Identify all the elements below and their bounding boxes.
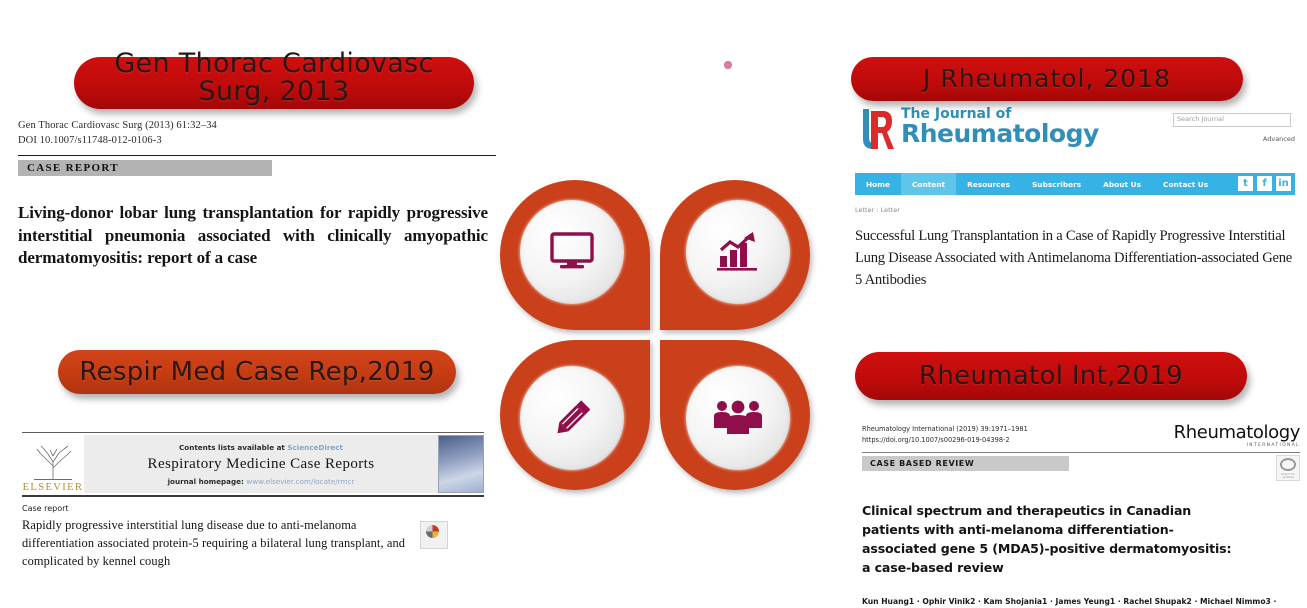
banner-rheumatol-int[interactable]: Rheumatol Int,2019 xyxy=(855,352,1247,400)
respir-top-rule xyxy=(22,432,484,433)
crossmark-badge-icon[interactable] xyxy=(420,521,448,549)
respir-journal-header: ELSEVIER Contents lists available at Sci… xyxy=(22,435,484,493)
respir-center-block: Contents lists available at ScienceDirec… xyxy=(84,435,438,493)
advanced-search-link[interactable]: Advanced xyxy=(1173,135,1295,143)
respir-journal-cover-thumbnail xyxy=(438,435,484,493)
panel-rheumatol-int: Rheumatology International (2019) 39:197… xyxy=(862,424,1300,608)
panel-j-rheumatol: The Journal of Rheumatology Search Journ… xyxy=(855,105,1295,292)
respir-homepage-link[interactable]: www.elsevier.com/locate/rmcr xyxy=(246,477,354,486)
jrheum-brand-line2: Rheumatology xyxy=(901,121,1099,147)
rheumint-doi[interactable]: https://doi.org/10.1007/s00296-019-04398… xyxy=(862,435,1028,446)
jrheum-article-title: Successful Lung Transplantation in a Cas… xyxy=(855,226,1297,292)
petal-top-right-disc xyxy=(686,200,790,304)
elsevier-logo: ELSEVIER xyxy=(22,435,84,493)
rheumint-header-row: Rheumatology International (2019) 39:197… xyxy=(862,424,1300,448)
banner-respir-med-label: Respir Med Case Rep,2019 xyxy=(79,359,434,386)
respir-journal-name: Respiratory Medicine Case Reports xyxy=(148,456,375,473)
nav-item-about-us[interactable]: About Us xyxy=(1092,173,1152,195)
nav-item-contact-us[interactable]: Contact Us xyxy=(1152,173,1219,195)
jrheum-search-area: Search Journal Advanced xyxy=(1173,113,1295,143)
elsevier-tree-icon xyxy=(28,442,78,482)
growth-chart-icon xyxy=(715,230,761,274)
respir-kicker: Case report xyxy=(22,504,484,513)
crossmark-badge-icon[interactable]: Check for updates xyxy=(1276,455,1300,481)
nav-item-subscribers[interactable]: Subscribers xyxy=(1021,173,1092,195)
petal-bottom-left[interactable] xyxy=(500,340,650,490)
facebook-icon[interactable]: f xyxy=(1257,176,1272,191)
pencil-icon xyxy=(549,395,595,441)
jrheum-social-links: t f in xyxy=(1238,176,1291,191)
banner-j-rheumatol-label: J Rheumatol, 2018 xyxy=(923,66,1171,92)
center-petal-graphic xyxy=(500,180,810,490)
banner-respir-med[interactable]: Respir Med Case Rep,2019 xyxy=(58,350,456,394)
jrheum-navbar: Home Content Resources Subscribers About… xyxy=(855,173,1295,195)
gen-thorac-divider xyxy=(18,155,496,156)
nav-item-resources[interactable]: Resources xyxy=(956,173,1021,195)
rheumint-brand-sub: INTERNATIONAL xyxy=(1174,443,1300,448)
slide-canvas: Gen Thorac Cardiovasc Surg (2013) 61:32–… xyxy=(0,0,1307,608)
respir-contents-prefix: Contents lists available at xyxy=(179,443,287,452)
banner-j-rheumatol[interactable]: J Rheumatol, 2018 xyxy=(851,57,1243,101)
banner-gen-thorac[interactable]: Gen Thorac Cardiovasc Surg, 2013 xyxy=(74,57,474,109)
people-group-icon xyxy=(713,398,763,438)
sciencedirect-link[interactable]: ScienceDirect xyxy=(287,443,343,452)
rheumint-category-row: CASE BASED REVIEW Check for updates xyxy=(862,453,1300,481)
petal-bottom-right[interactable] xyxy=(660,340,810,490)
petal-bottom-left-disc xyxy=(520,366,624,470)
gen-thorac-doi: DOI 10.1007/s11748-012-0106-3 xyxy=(18,133,496,148)
petal-top-left[interactable] xyxy=(500,180,650,330)
respir-homepage-line: journal homepage: www.elsevier.com/locat… xyxy=(168,477,355,486)
jr-logo-svg xyxy=(855,105,895,157)
rheumint-authors: Kun Huang1 · Ophir Vinik2 · Kam Shojania… xyxy=(862,595,1292,608)
jrheum-header-row: The Journal of Rheumatology Search Journ… xyxy=(855,105,1295,165)
rheumint-meta: Rheumatology International (2019) 39:197… xyxy=(862,424,1028,446)
rheumint-citation: Rheumatology International (2019) 39:197… xyxy=(862,424,1028,435)
banner-rheumatol-int-label: Rheumatol Int,2019 xyxy=(919,363,1183,390)
nav-item-content[interactable]: Content xyxy=(901,173,956,195)
respir-title-row: Rapidly progressive interstitial lung di… xyxy=(22,517,484,571)
jrheum-wordmark: The Journal of Rheumatology xyxy=(901,105,1099,147)
breadcrumb: Letter : Letter xyxy=(855,206,1295,214)
rheumint-brand-name: Rheumatology xyxy=(1174,424,1300,442)
respir-homepage-prefix: journal homepage: xyxy=(168,477,247,486)
crossmark-label: Check for updates xyxy=(1277,473,1299,480)
respir-bottom-rule xyxy=(22,495,484,497)
petal-top-left-disc xyxy=(520,200,624,304)
rheumint-authors-line1: Kun Huang1 · Ophir Vinik2 · Kam Shojania… xyxy=(862,595,1292,608)
crossmark-ring-icon xyxy=(1280,458,1296,471)
gen-thorac-article-title: Living-donor lobar lung transplantation … xyxy=(18,202,488,269)
stray-marker-dot xyxy=(724,61,732,69)
petal-top-right[interactable] xyxy=(660,180,810,330)
respir-article-title: Rapidly progressive interstitial lung di… xyxy=(22,517,414,571)
panel-respir-med: ELSEVIER Contents lists available at Sci… xyxy=(22,432,484,571)
gen-thorac-category-badge: CASE REPORT xyxy=(18,160,272,176)
rheumint-article-title: Clinical spectrum and therapeutics in Ca… xyxy=(862,501,1232,578)
elsevier-wordmark: ELSEVIER xyxy=(23,482,84,493)
rheumint-category-badge: CASE BASED REVIEW xyxy=(862,456,1069,471)
banner-gen-thorac-label: Gen Thorac Cardiovasc Surg, 2013 xyxy=(114,50,433,105)
twitter-icon[interactable]: t xyxy=(1238,176,1253,191)
linkedin-icon[interactable]: in xyxy=(1276,176,1291,191)
monitor-icon xyxy=(548,230,596,274)
search-input[interactable]: Search Journal xyxy=(1173,113,1291,127)
respir-contents-line: Contents lists available at ScienceDirec… xyxy=(179,443,343,452)
gen-thorac-citation: Gen Thorac Cardiovasc Surg (2013) 61:32–… xyxy=(18,118,496,133)
rheumint-brand: Rheumatology INTERNATIONAL xyxy=(1174,424,1300,448)
jr-monogram-logo-icon xyxy=(855,105,895,155)
petal-bottom-right-disc xyxy=(686,366,790,470)
panel-gen-thorac: Gen Thorac Cardiovasc Surg (2013) 61:32–… xyxy=(18,118,496,270)
nav-item-home[interactable]: Home xyxy=(855,173,901,195)
